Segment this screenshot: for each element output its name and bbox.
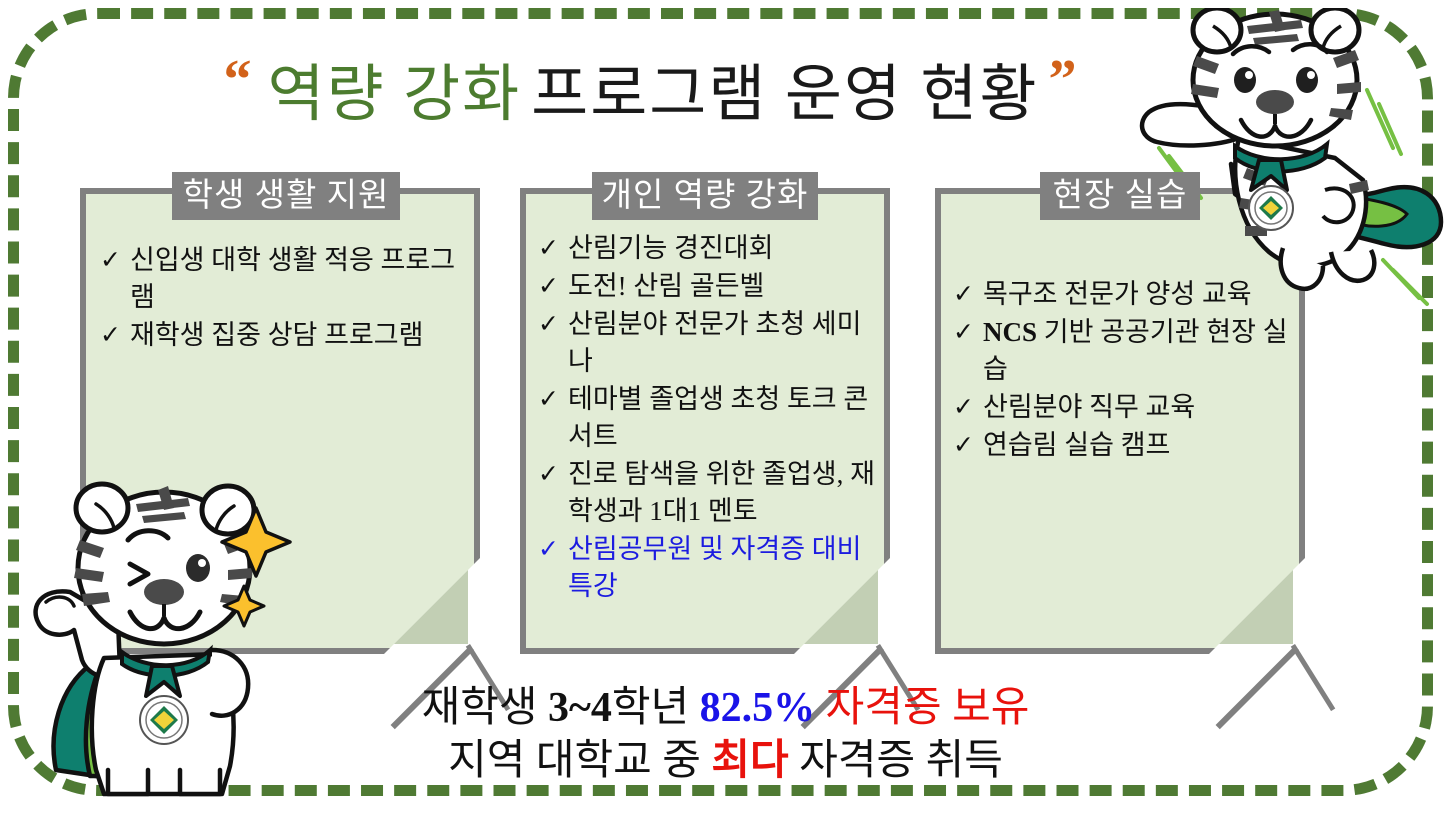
slide-canvas: “ 역량 강화 프로그램 운영 현황 ” ✓ 신입생 대학 생활 적응 프로그램… [0,0,1451,814]
bottom-line2-red: 최다 [711,738,788,784]
list-item: ✓ 산림분야 전문가 초청 세미나 [538,306,878,380]
list-item-label: 목구조 전문가 양성 교육 [983,276,1293,313]
card-header-student-life: 학생 생활 지원 [172,172,400,220]
bottom-line1-part2: 학년 [612,685,700,731]
page-fold-triangle [1219,570,1293,644]
check-icon: ✓ [953,314,983,351]
check-icon: ✓ [538,306,568,343]
list-item-label: 산림기능 경진대회 [568,230,878,267]
list-item: ✓ 연습림 실습 캠프 [953,427,1293,464]
program-card-student-life: ✓ 신입생 대학 생활 적응 프로그램 ✓ 재학생 집중 상담 프로그램 [80,188,480,654]
ncs-acronym: NCS [983,317,1037,347]
program-list: ✓ 산림기능 경진대회 ✓ 도전! 산림 골든벨 ✓ 산림분야 전문가 초청 세… [538,230,878,606]
check-icon: ✓ [953,427,983,464]
list-item: ✓ 신입생 대학 생활 적응 프로그램 [100,242,466,316]
list-item: ✓ 테마별 졸업생 초청 토크 콘서트 [538,381,878,455]
list-item-label: 신입생 대학 생활 적응 프로그램 [130,242,466,316]
list-item-label: 테마별 졸업생 초청 토크 콘서트 [568,381,878,455]
list-item: ✓ 목구조 전문가 양성 교육 [953,276,1293,313]
bottom-line1-red: 자격증 보유 [815,685,1029,731]
check-icon: ✓ [538,381,568,418]
check-icon: ✓ [538,531,568,568]
list-item: ✓ 산림분야 직무 교육 [953,389,1293,426]
list-item: ✓ 산림기능 경진대회 [538,230,878,267]
title-highlight: 역량 강화 [268,43,522,133]
list-item: ✓ 진로 탐색을 위한 졸업생, 재학생과 1대1 멘토 [538,456,878,530]
list-item-label: NCS 기반 공공기관 현장 실습 [983,314,1293,388]
page-fold-triangle [804,570,878,644]
bottom-line1-part1: 재학생 [422,685,548,731]
check-icon: ✓ [538,268,568,305]
quote-close-icon: ” [1049,52,1077,108]
list-item-label: 산림분야 직무 교육 [983,389,1293,426]
program-card-personal-competency: ✓ 산림기능 경진대회 ✓ 도전! 산림 골든벨 ✓ 산림분야 전문가 초청 세… [520,188,890,654]
bottom-line2-part1: 지역 대학교 중 [448,738,711,784]
check-icon: ✓ [538,456,568,493]
list-item-label: 연습림 실습 캠프 [983,427,1293,464]
check-icon: ✓ [100,317,130,354]
list-item: ✓ NCS 기반 공공기관 현장 실습 [953,314,1293,388]
list-item-label: 산림분야 전문가 초청 세미나 [568,306,878,380]
program-list: ✓ 신입생 대학 생활 적응 프로그램 ✓ 재학생 집중 상담 프로그램 [100,242,466,355]
card-header-field-practice: 현장 실습 [1040,172,1200,220]
title-rest: 프로그램 운영 현황 [531,43,1038,133]
page-fold-triangle [394,570,468,644]
program-list: ✓ 목구조 전문가 양성 교육 ✓ NCS 기반 공공기관 현장 실습 ✓ 산림… [953,276,1293,465]
card-header-personal-competency: 개인 역량 강화 [592,172,818,220]
list-item-label: 재학생 집중 상담 프로그램 [130,317,466,354]
quote-open-icon: “ [224,52,252,108]
program-card-field-practice: ✓ 목구조 전문가 양성 교육 ✓ NCS 기반 공공기관 현장 실습 ✓ 산림… [935,188,1305,654]
bottom-line2-part2: 자격증 취득 [789,738,1003,784]
check-icon: ✓ [953,389,983,426]
bottom-statement: 재학생 3~4학년 82.5% 자격증 보유 지역 대학교 중 최다 자격증 취… [0,682,1451,788]
check-icon: ✓ [953,276,983,313]
bottom-line1-percent: 82.5% [700,685,816,731]
bottom-statement-line-1: 재학생 3~4학년 82.5% 자격증 보유 [0,682,1451,735]
page-title: “ 역량 강화 프로그램 운영 현황 ” [120,42,1180,134]
list-item-label: 진로 탐색을 위한 졸업생, 재학생과 1대1 멘토 [568,456,878,530]
list-item: ✓ 재학생 집중 상담 프로그램 [100,317,466,354]
list-item-label: 도전! 산림 골든벨 [568,268,878,305]
check-icon: ✓ [100,242,130,279]
bottom-line1-grade: 3~4 [548,685,612,731]
check-icon: ✓ [538,230,568,267]
list-item: ✓ 도전! 산림 골든벨 [538,268,878,305]
bottom-statement-line-2: 지역 대학교 중 최다 자격증 취득 [0,735,1451,788]
